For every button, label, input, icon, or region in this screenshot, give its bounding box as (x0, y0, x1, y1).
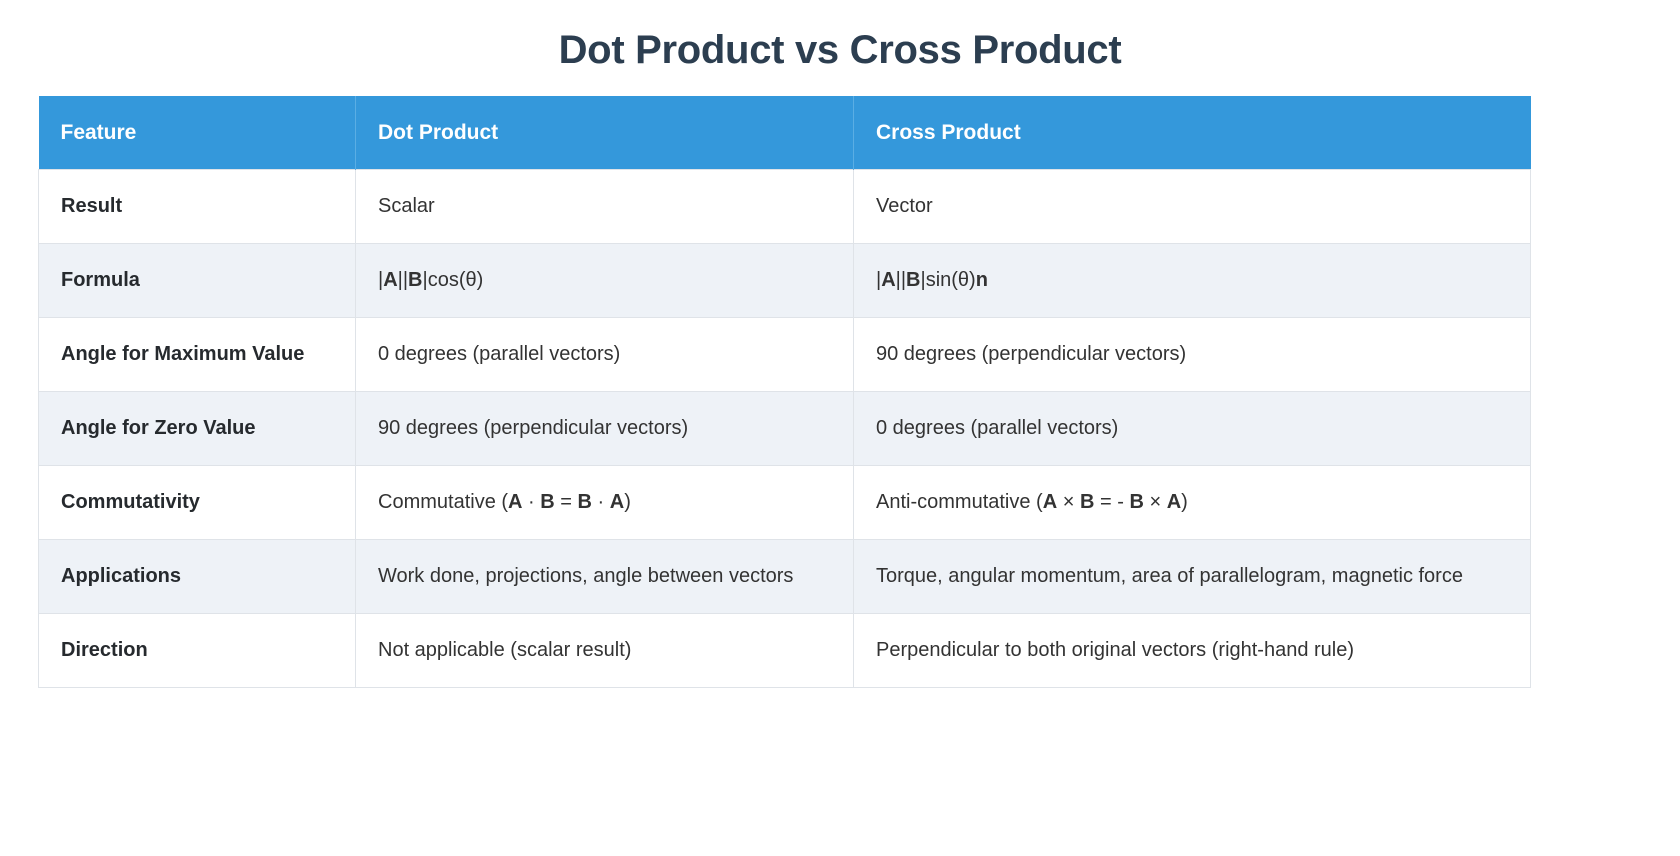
cell-cross-product: |A||B|sin(θ)n (854, 244, 1531, 318)
table-header: Feature Dot Product Cross Product (39, 96, 1531, 170)
cell-dot-product: |A||B|cos(θ) (356, 244, 854, 318)
cell-dot-product: Work done, projections, angle between ve… (356, 540, 854, 614)
vector-symbol: A (1043, 491, 1057, 513)
math-operator: = (555, 491, 578, 513)
cell-feature: Applications (39, 540, 356, 614)
vector-symbol: A (1167, 491, 1181, 513)
math-operator: = - (1094, 491, 1129, 513)
cell-cross-product: 90 degrees (perpendicular vectors) (854, 318, 1531, 392)
vector-symbol: B (578, 491, 592, 513)
column-header-dot-product: Dot Product (356, 96, 854, 170)
math-operator: × (1057, 491, 1080, 513)
table-row: DirectionNot applicable (scalar result)P… (39, 614, 1531, 688)
math-operator: |cos(θ) (423, 269, 484, 291)
page-title: Dot Product vs Cross Product (0, 0, 1680, 96)
cell-feature: Commutativity (39, 466, 356, 540)
cell-feature: Angle for Maximum Value (39, 318, 356, 392)
vector-symbol: A (508, 491, 522, 513)
table-row: Angle for Zero Value90 degrees (perpendi… (39, 392, 1531, 466)
math-operator: · (522, 491, 540, 513)
math-operator: × (1144, 491, 1167, 513)
math-operator: Commutative ( (378, 491, 508, 513)
math-operator: ) (1181, 491, 1188, 513)
cell-dot-product: 90 degrees (perpendicular vectors) (356, 392, 854, 466)
cell-dot-product: 0 degrees (parallel vectors) (356, 318, 854, 392)
cell-cross-product: 0 degrees (parallel vectors) (854, 392, 1531, 466)
cell-dot-product: Scalar (356, 170, 854, 244)
comparison-table: Feature Dot Product Cross Product Result… (38, 96, 1531, 688)
vector-symbol: n (976, 269, 988, 291)
column-header-cross-product: Cross Product (854, 96, 1531, 170)
cell-feature: Result (39, 170, 356, 244)
vector-symbol: B (408, 269, 422, 291)
table-row: CommutativityCommutative (A · B = B · A)… (39, 466, 1531, 540)
vector-symbol: B (1080, 491, 1094, 513)
vector-symbol: A (881, 269, 895, 291)
cell-cross-product: Torque, angular momentum, area of parall… (854, 540, 1531, 614)
cell-dot-product: Not applicable (scalar result) (356, 614, 854, 688)
math-operator: Anti-commutative ( (876, 491, 1043, 513)
vector-symbol: A (383, 269, 397, 291)
vector-symbol: B (906, 269, 920, 291)
vector-symbol: A (610, 491, 624, 513)
comparison-table-wrapper: Feature Dot Product Cross Product Result… (0, 96, 1680, 688)
math-operator: · (592, 491, 610, 513)
cell-feature: Angle for Zero Value (39, 392, 356, 466)
table-row: Formula|A||B|cos(θ)|A||B|sin(θ)n (39, 244, 1531, 318)
cell-cross-product: Vector (854, 170, 1531, 244)
page-root: Dot Product vs Cross Product Feature Dot… (0, 0, 1680, 856)
table-body: ResultScalarVectorFormula|A||B|cos(θ)|A|… (39, 170, 1531, 688)
cell-dot-product: Commutative (A · B = B · A) (356, 466, 854, 540)
table-row: ApplicationsWork done, projections, angl… (39, 540, 1531, 614)
math-operator: ) (624, 491, 631, 513)
vector-symbol: B (540, 491, 554, 513)
math-operator: || (398, 269, 408, 291)
cell-feature: Formula (39, 244, 356, 318)
cell-cross-product: Perpendicular to both original vectors (… (854, 614, 1531, 688)
math-operator: || (896, 269, 906, 291)
table-row: ResultScalarVector (39, 170, 1531, 244)
table-header-row: Feature Dot Product Cross Product (39, 96, 1531, 170)
cell-cross-product: Anti-commutative (A × B = - B × A) (854, 466, 1531, 540)
math-operator: |sin(θ) (921, 269, 976, 291)
cell-feature: Direction (39, 614, 356, 688)
table-row: Angle for Maximum Value0 degrees (parall… (39, 318, 1531, 392)
column-header-feature: Feature (39, 96, 356, 170)
vector-symbol: B (1129, 491, 1143, 513)
